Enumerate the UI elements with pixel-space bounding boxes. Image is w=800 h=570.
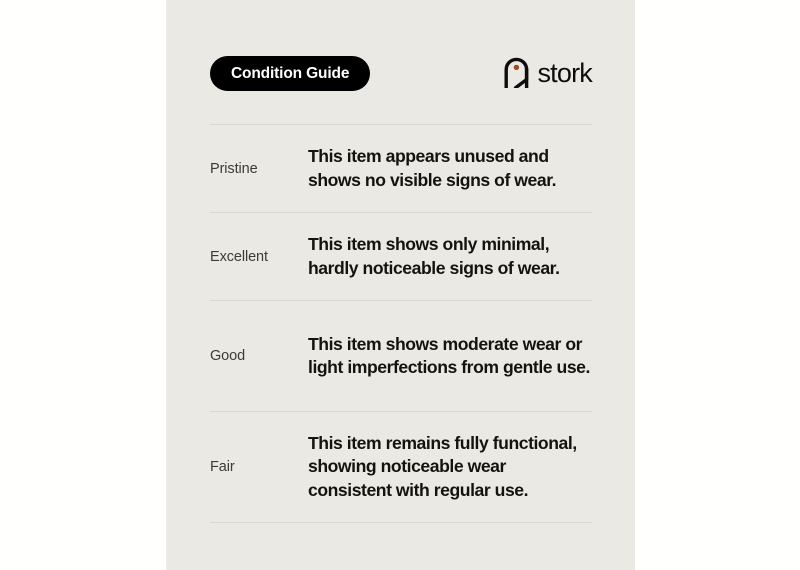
- table-row: Pristine This item appears unused and sh…: [210, 125, 592, 212]
- condition-label: Good: [210, 348, 308, 364]
- condition-label: Excellent: [210, 249, 308, 265]
- condition-description: This item shows moderate wear or light i…: [308, 333, 592, 379]
- stork-arch-logo-icon: [503, 57, 530, 88]
- condition-description: This item shows only minimal, hardly not…: [308, 233, 592, 279]
- table-row: Good This item shows moderate wear or li…: [210, 301, 592, 411]
- card-content: Condition Guide stork Pristine This item…: [210, 0, 592, 570]
- table-row: Fair This item remains fully functional,…: [210, 412, 592, 522]
- condition-label: Pristine: [210, 161, 308, 177]
- condition-guide-badge: Condition Guide: [210, 56, 370, 91]
- card-header: Condition Guide stork: [210, 56, 592, 92]
- condition-guide-card: Condition Guide stork Pristine This item…: [166, 0, 635, 570]
- condition-table: Pristine This item appears unused and sh…: [210, 124, 592, 523]
- condition-label: Fair: [210, 459, 308, 475]
- brand-name: stork: [537, 60, 592, 87]
- brand-lockup: stork: [503, 57, 592, 88]
- condition-description: This item appears unused and shows no vi…: [308, 145, 592, 191]
- table-row: Excellent This item shows only minimal, …: [210, 213, 592, 300]
- table-divider: [210, 522, 592, 523]
- condition-description: This item remains fully functional, show…: [308, 432, 592, 502]
